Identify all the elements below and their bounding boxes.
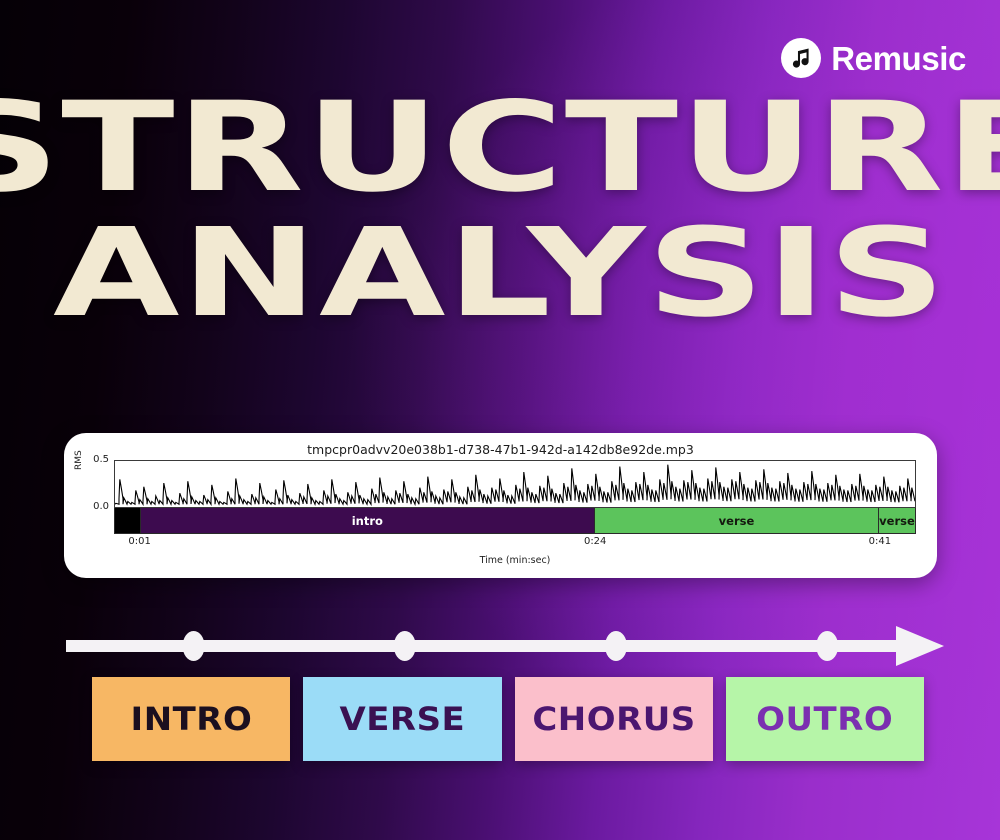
chart-x-tick-0: 0:01 [128, 536, 150, 547]
segment-label: verse [719, 514, 755, 528]
section-card-label: OUTRO [756, 700, 893, 738]
segment-label: intro [352, 514, 383, 528]
brand-logo[interactable]: Remusic [781, 38, 966, 78]
section-cards: INTROVERSECHORUSOUTRO [92, 677, 924, 761]
chart-x-ticks: 0:010:240:41 [114, 536, 916, 552]
chart-x-tick-2: 0:41 [869, 536, 891, 547]
chart-x-tick-1: 0:24 [584, 536, 606, 547]
structure-analysis-poster: Remusic STRUCTURE ANALYSIS tmpcpr0advv20… [0, 0, 1000, 840]
chart-y-axis-label: RMS [74, 450, 84, 470]
segment-verse-2[interactable]: verse [595, 508, 879, 533]
chart-y-tick-max: 0.5 [93, 454, 109, 465]
timeline-dot-1[interactable] [394, 631, 416, 661]
page-title: STRUCTURE ANALYSIS [0, 96, 1000, 325]
segment-silence[interactable] [115, 508, 141, 533]
section-card-verse[interactable]: VERSE [303, 677, 501, 761]
timeline-dot-2[interactable] [605, 631, 627, 661]
section-card-label: VERSE [339, 700, 465, 738]
chart-title-filename: tmpcpr0advv20e038b1-d738-47b1-942d-a142d… [64, 442, 937, 457]
chart-plot-area: RMS 0.5 0.0 introverseverse 0:010:240:41… [114, 460, 916, 540]
section-card-outro[interactable]: OUTRO [726, 677, 924, 761]
section-card-label: INTRO [130, 700, 252, 738]
segment-bar[interactable]: introverseverse [114, 508, 916, 534]
section-card-intro[interactable]: INTRO [92, 677, 290, 761]
section-card-label: CHORUS [532, 700, 695, 738]
chart-x-axis-label: Time (min:sec) [114, 555, 916, 566]
timeline-dot-3[interactable] [816, 631, 838, 661]
timeline-dot-0[interactable] [183, 631, 205, 661]
waveform-chart-card: tmpcpr0advv20e038b1-d738-47b1-942d-a142d… [64, 433, 937, 578]
brand-name: Remusic [831, 42, 966, 75]
segment-verse-3[interactable]: verse [879, 508, 915, 533]
timeline-arrow [66, 622, 946, 670]
segment-label: verse [879, 514, 915, 528]
chart-y-tick-min: 0.0 [93, 501, 109, 512]
music-note-icon [781, 38, 821, 78]
section-card-chorus[interactable]: CHORUS [515, 677, 713, 761]
segment-intro-1[interactable]: intro [141, 508, 595, 533]
page-title-line-2: ANALYSIS [0, 222, 1000, 324]
rms-waveform-plot [114, 460, 916, 508]
page-title-line-1: STRUCTURE [0, 96, 1000, 200]
